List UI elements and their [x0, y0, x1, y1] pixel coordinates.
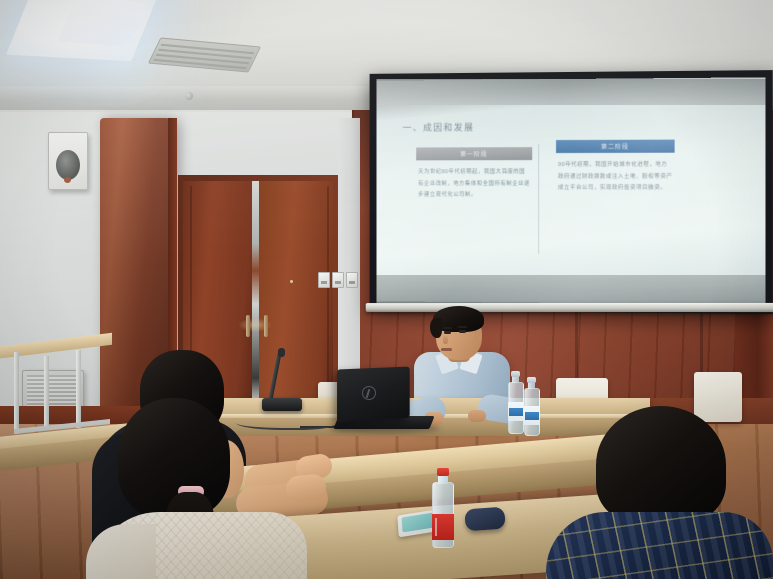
bottle-cap-icon [511, 371, 520, 377]
light-switch-icon[interactable] [332, 272, 344, 288]
microphone-capsule-icon [278, 348, 285, 357]
slide-box-stage-one: 第一阶段 天为世纪80年代初期起，我国大百废的国有企业改制，地方集体和全国所有制… [416, 147, 532, 202]
table-leg [14, 352, 19, 434]
door-handle-icon[interactable] [264, 315, 268, 337]
light-switch-icon[interactable] [346, 272, 358, 288]
presenter-nose [443, 336, 448, 344]
slide-box-body: 天为世纪80年代初期起，我国大百废的国有企业改制，地方集体和全国所有制企业逐步建… [416, 160, 532, 202]
door-panel-line [327, 186, 329, 400]
cable [236, 416, 336, 430]
conference-room-photo: 一、成因和发展 第一阶段 天为世纪80年代初期起，我国大百废的国有企业改制，地方… [0, 0, 773, 579]
slide-box-stage-two: 第二阶段 90年代初期，我国开始城市化进程，地方政府通过财政拨款或注入土地、股权… [556, 140, 675, 195]
bottle-cap-icon [437, 468, 449, 476]
presenter-hand-right [468, 410, 486, 422]
speaker-indicator-icon [64, 177, 71, 183]
presenter-ear [474, 330, 482, 342]
microphone-base[interactable] [262, 398, 302, 411]
slide-divider [538, 144, 539, 254]
bottle-label [432, 514, 454, 540]
water-bottle-red[interactable] [432, 470, 454, 550]
light-switch-panel[interactable] [318, 272, 358, 288]
slide-box-header: 第一阶段 [416, 147, 532, 160]
door-right-panel[interactable] [258, 181, 333, 405]
presenter-hair-side [430, 318, 442, 338]
door-stud-icon [290, 280, 293, 283]
slide-title: 一、成因和发展 [403, 121, 475, 134]
sprinkler-icon [185, 92, 193, 100]
screen-bottom-band [376, 275, 765, 303]
laptop-brand-logo-icon [362, 386, 376, 400]
presentation-slide: 一、成因和发展 第一阶段 天为世纪80年代初期起，我国大百废的国有企业改制，地方… [381, 99, 760, 282]
chair-back[interactable] [694, 372, 742, 422]
light-switch-icon[interactable] [318, 272, 330, 288]
slide-box-header: 第二阶段 [556, 140, 675, 153]
presenter-mouth [441, 348, 452, 351]
door-handle-icon[interactable] [246, 315, 250, 337]
table-leg [44, 356, 49, 426]
slide-box-body: 90年代初期，我国开始城市化进程，地方政府通过财政拨款或注入土地、股权等资产成立… [556, 153, 675, 195]
door-gap [252, 181, 259, 405]
presenter-eyebrow [443, 327, 452, 329]
bottle-label [508, 402, 524, 421]
speaker-cone-icon [56, 150, 80, 180]
glasses-case[interactable] [464, 507, 505, 532]
attendee-front-right-plaid-pattern [546, 512, 773, 579]
table-leg [76, 350, 81, 428]
presenter-eyebrow [458, 326, 467, 328]
attendee-front-right-hair [596, 406, 726, 524]
screen-roller-bar [366, 303, 773, 312]
presenter-eye [444, 331, 451, 334]
bottle-cap-icon [527, 377, 536, 383]
bottle-label [524, 406, 540, 425]
presenter-eye [459, 330, 466, 333]
